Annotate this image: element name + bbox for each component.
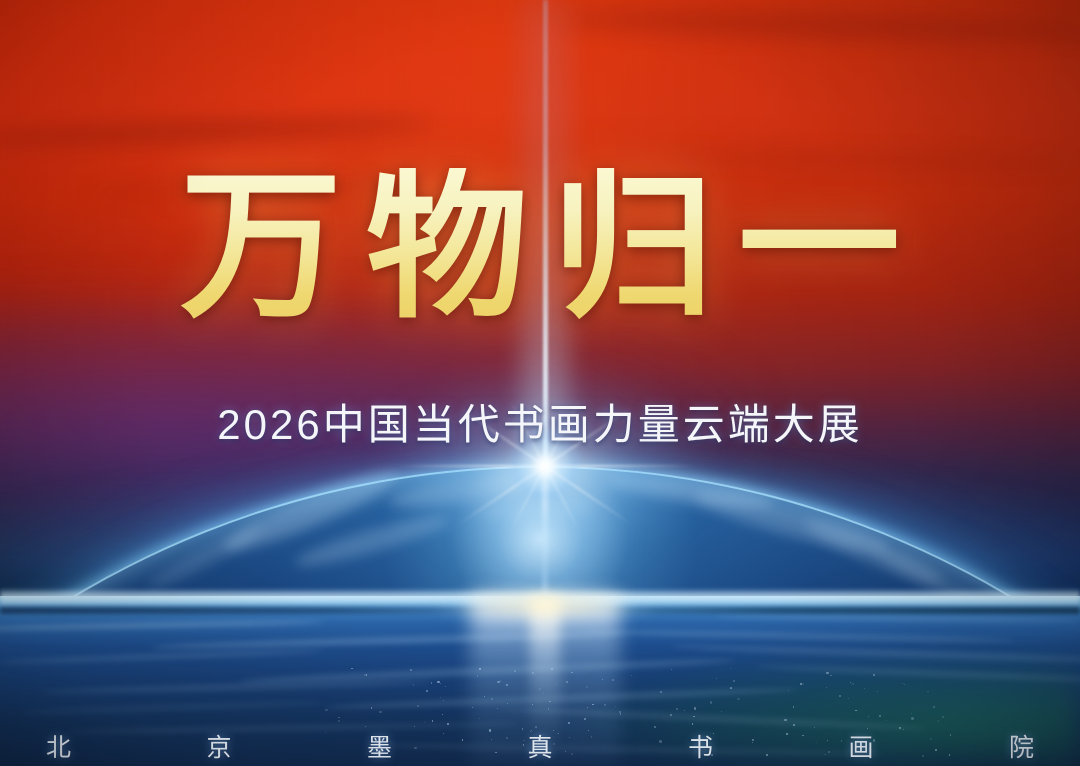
wave-streak: [583, 629, 1015, 644]
city-light-speckle: [660, 691, 662, 693]
wave-streak: [43, 680, 432, 695]
city-light-speckle: [873, 674, 875, 676]
city-light-speckle: [684, 710, 685, 711]
organization-bar: 北 京 墨 真 书 画 院: [0, 726, 1080, 766]
poster-canvas: 万物归一 2026中国当代书画力量云端大展 北 京 墨 真 书 画 院: [0, 0, 1080, 766]
organization-char: 画: [849, 728, 1010, 764]
horizon-hotspot: [435, 589, 655, 623]
city-light-speckle: [338, 720, 340, 722]
city-light-speckle: [692, 723, 693, 724]
city-light-speckle: [868, 716, 869, 717]
organization-char: 院: [1009, 728, 1034, 764]
city-light-speckle: [366, 674, 368, 676]
city-light-speckle: [800, 683, 801, 684]
organization-char: 北: [46, 728, 207, 764]
city-light-speckle: [830, 675, 831, 676]
city-light-speckle: [730, 668, 731, 669]
title-block: 万物归一: [0, 168, 1080, 330]
city-light-speckle: [942, 716, 944, 718]
city-light-speckle: [437, 681, 439, 683]
city-light-speckle: [839, 695, 841, 697]
city-light-speckle: [442, 714, 443, 715]
city-light-speckle: [379, 711, 381, 713]
city-light-speckle: [413, 684, 414, 685]
page-title: 万物归一: [0, 168, 1080, 330]
city-light-speckle: [426, 690, 428, 692]
city-light-speckle: [911, 717, 913, 719]
wave-streak: [0, 648, 324, 664]
city-light-speckle: [445, 686, 446, 687]
organization-char: 京: [207, 728, 368, 764]
organization-char: 真: [528, 728, 689, 764]
city-light-speckle: [784, 719, 786, 721]
wave-streak: [0, 620, 324, 632]
organization-char: 书: [688, 728, 849, 764]
city-light-speckle: [716, 678, 717, 679]
city-light-speckle: [440, 697, 441, 698]
city-light-speckle: [443, 700, 444, 701]
city-light-speckle: [371, 707, 372, 708]
wave-streak: [22, 700, 324, 714]
organization-char: 墨: [367, 728, 528, 764]
city-light-speckle: [879, 715, 881, 717]
city-light-speckle: [730, 687, 732, 689]
subtitle: 2026中国当代书画力量云端大展: [0, 404, 1080, 446]
city-light-speckle: [733, 680, 735, 682]
city-light-speckle: [886, 720, 887, 721]
wave-streak: [713, 614, 1080, 624]
city-light-speckle: [710, 701, 712, 703]
city-light-speckle: [351, 668, 353, 670]
city-light-speckle: [325, 709, 327, 711]
city-light-speckle: [440, 683, 441, 684]
city-light-speckle: [431, 682, 432, 683]
city-light-speckle: [432, 720, 433, 721]
city-light-speckle: [338, 717, 340, 719]
city-light-speckle: [447, 723, 448, 724]
city-light-speckle: [410, 669, 412, 671]
